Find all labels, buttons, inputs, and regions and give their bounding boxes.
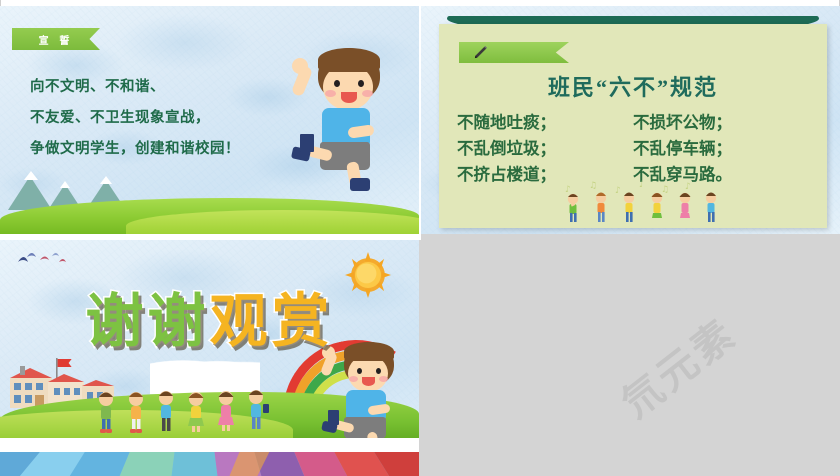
slide1-ribbon-badge: 宣 誓 <box>12 28 100 50</box>
birds-icon <box>14 248 72 272</box>
slide-thumbnail-canvas: 宣 誓 向不文明、不和谐、 不友爱、不卫生现象宣战， 争做文明学生，创建和谐校园… <box>0 0 840 476</box>
pledge-line-1: 向不文明、不和谐、 <box>30 72 330 103</box>
rules-row: 不乱倒垃圾； 不乱停车辆； <box>457 136 809 162</box>
rule-2-left: 不乱倒垃圾； <box>457 136 633 162</box>
svg-text:♪: ♪ <box>615 186 621 196</box>
pledge-line-3: 争做文明学生，创建和谐校园！ <box>30 134 330 165</box>
pledge-line-2: 不友爱、不卫生现象宣战， <box>30 103 330 134</box>
slide2-title: 班民“六不”规范 <box>439 70 827 102</box>
slide3-title-part2: 观赏 <box>210 287 334 355</box>
slide-thank-you[interactable]: 谢谢观赏 <box>0 240 419 476</box>
watermark: 氘元素 <box>607 242 840 476</box>
svg-text:♩: ♩ <box>639 180 643 190</box>
slide1-pledge-text: 向不文明、不和谐、 不友爱、不卫生现象宣战， 争做文明学生，创建和谐校园！ <box>30 72 330 165</box>
rule-1-right: 不损坏公物； <box>633 110 809 136</box>
slide3-waving-boy-illustration <box>322 342 412 450</box>
polygon-strip <box>0 452 419 476</box>
slide3-title-part1: 谢谢 <box>85 287 209 355</box>
slide3-title: 谢谢观赏 <box>0 292 419 350</box>
slide2-tag <box>459 42 569 63</box>
slide-six-nos-rules[interactable]: 班民“六不”规范 不随地吐痰； 不损坏公物； 不乱倒垃圾； 不乱停车辆； 不挤占… <box>421 6 840 234</box>
slide2-card: 班民“六不”规范 不随地吐痰； 不损坏公物； 不乱倒垃圾； 不乱停车辆； 不挤占… <box>439 24 827 228</box>
rule-1-left: 不随地吐痰； <box>457 110 633 136</box>
slide2-rules-list: 不随地吐痰； 不损坏公物； 不乱倒垃圾； 不乱停车辆； 不挤占楼道； 不乱穿马路… <box>457 110 809 188</box>
svg-text:♪: ♪ <box>685 182 691 192</box>
svg-text:♫: ♫ <box>589 181 597 191</box>
svg-text:♫: ♫ <box>661 185 669 195</box>
svg-text:♪: ♪ <box>565 185 571 195</box>
slide-pledge[interactable]: 宣 誓 向不文明、不和谐、 不友爱、不卫生现象宣战， 争做文明学生，创建和谐校园… <box>0 6 419 234</box>
pencil-icon <box>473 45 488 60</box>
slide3-children-illustration <box>96 382 286 434</box>
slide2-children-illustration: ♪♫ ♪♩ ♫♪ <box>439 180 827 224</box>
rule-2-right: 不乱停车辆； <box>633 136 809 162</box>
rules-row: 不随地吐痰； 不损坏公物； <box>457 110 809 136</box>
slide1-ribbon-label: 宣 誓 <box>39 32 74 47</box>
